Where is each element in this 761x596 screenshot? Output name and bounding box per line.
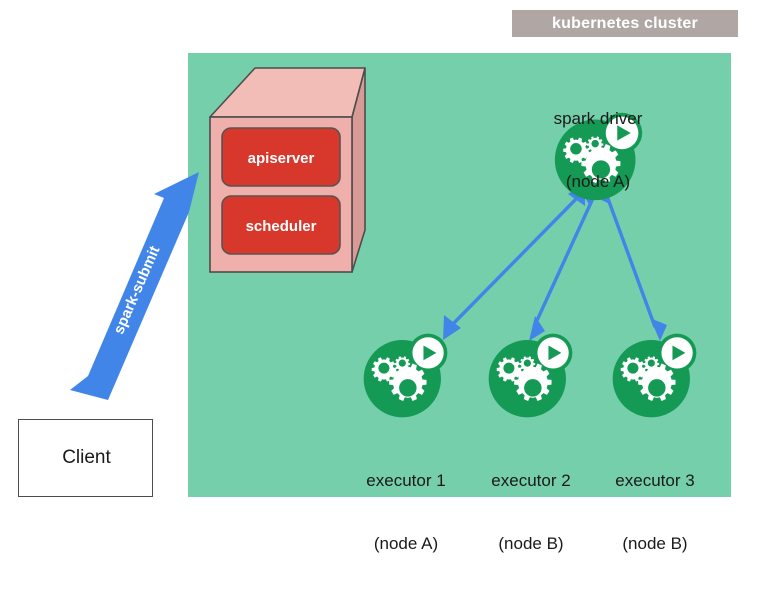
scheduler-box: scheduler	[222, 196, 340, 254]
executor-2-label-line2: (node B)	[461, 533, 601, 554]
kubernetes-cluster-label: kubernetes cluster	[512, 10, 738, 37]
spark-driver-label: spark driver (node A)	[528, 66, 668, 234]
executor-1-label: executor 1 (node A)	[336, 428, 476, 596]
spark-driver-label-line2: (node A)	[528, 171, 668, 192]
executor-2-label-line1: executor 2	[461, 470, 601, 491]
spark-driver-label-line1: spark driver	[528, 108, 668, 129]
executor-1-label-line1: executor 1	[336, 470, 476, 491]
executor-3-label-line2: (node B)	[585, 533, 725, 554]
executor-3-label: executor 3 (node B)	[585, 428, 725, 596]
executor-3-label-line1: executor 3	[585, 470, 725, 491]
client-box: Client	[18, 419, 153, 497]
executor-2-label: executor 2 (node B)	[461, 428, 601, 596]
diagram-canvas: spark-submit apiserver scheduler	[0, 0, 761, 516]
svg-text:scheduler: scheduler	[246, 218, 317, 235]
control-plane-cube: apiserver scheduler	[210, 68, 365, 272]
client-label: Client	[19, 447, 154, 469]
executor-1-label-line2: (node A)	[336, 533, 476, 554]
svg-text:apiserver: apiserver	[248, 150, 315, 167]
apiserver-box: apiserver	[222, 128, 340, 186]
spark-submit-arrow: spark-submit	[70, 172, 199, 400]
